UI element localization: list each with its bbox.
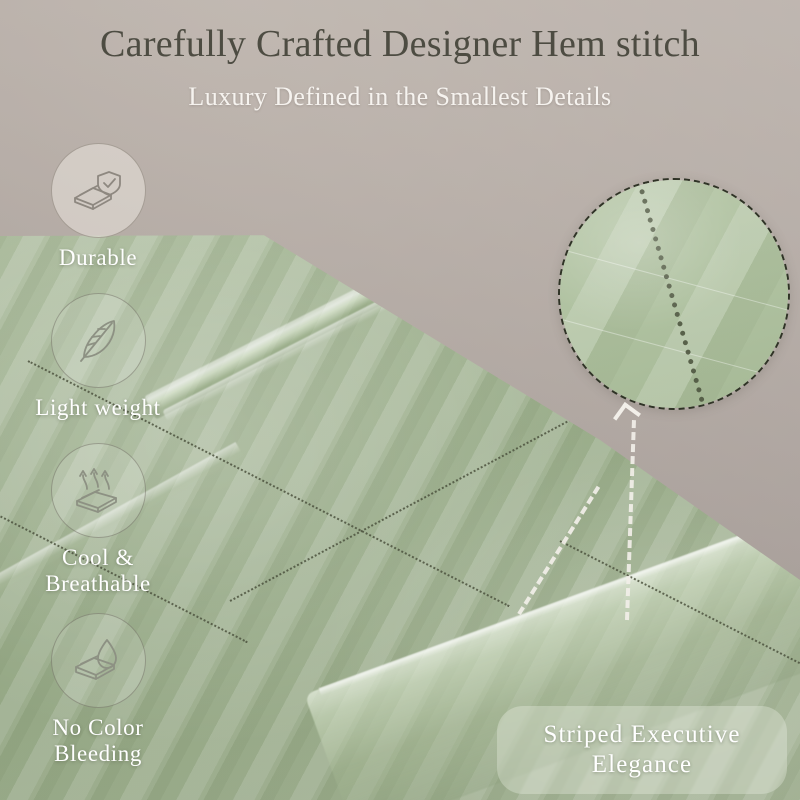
feature-label: No ColorBleeding: [3, 715, 193, 767]
page-subtitle: Luxury Defined in the Smallest Details: [0, 82, 800, 112]
feature-label: Light weight: [3, 395, 193, 421]
magnifier-gloss: [558, 178, 790, 410]
magnifier-fabric: [558, 178, 790, 410]
feather-icon: [74, 315, 122, 367]
feature-light-weight: Light weight: [3, 293, 193, 421]
feature-cool-breathable: Cool &Breathable: [3, 443, 193, 597]
fabric-water-droplet-icon: [71, 637, 125, 685]
feature-icon-badge: [51, 613, 146, 708]
feature-icon-badge: [51, 443, 146, 538]
product-feature-image: Carefully Crafted Designer Hem stitch Lu…: [0, 0, 800, 800]
page-title: Carefully Crafted Designer Hem stitch: [0, 22, 800, 66]
feature-icon-badge: [51, 293, 146, 388]
hemstitch-detail-magnifier: [558, 178, 790, 410]
product-tagline: Striped Executive Elegance: [543, 720, 740, 780]
feature-no-color-bleeding: No ColorBleeding: [3, 613, 193, 767]
tagline-line-1: Striped Executive: [543, 721, 740, 748]
product-tagline-badge: Striped Executive Elegance: [497, 706, 787, 794]
tagline-line-2: Elegance: [592, 751, 692, 778]
feature-durable: Durable: [3, 143, 193, 271]
breathable-fabric-airflow-icon: [71, 465, 125, 517]
feature-label: Cool &Breathable: [3, 545, 193, 597]
folded-linen-shield-icon: [71, 168, 125, 214]
feature-icon-badge: [51, 143, 146, 238]
feature-label: Durable: [3, 245, 193, 271]
